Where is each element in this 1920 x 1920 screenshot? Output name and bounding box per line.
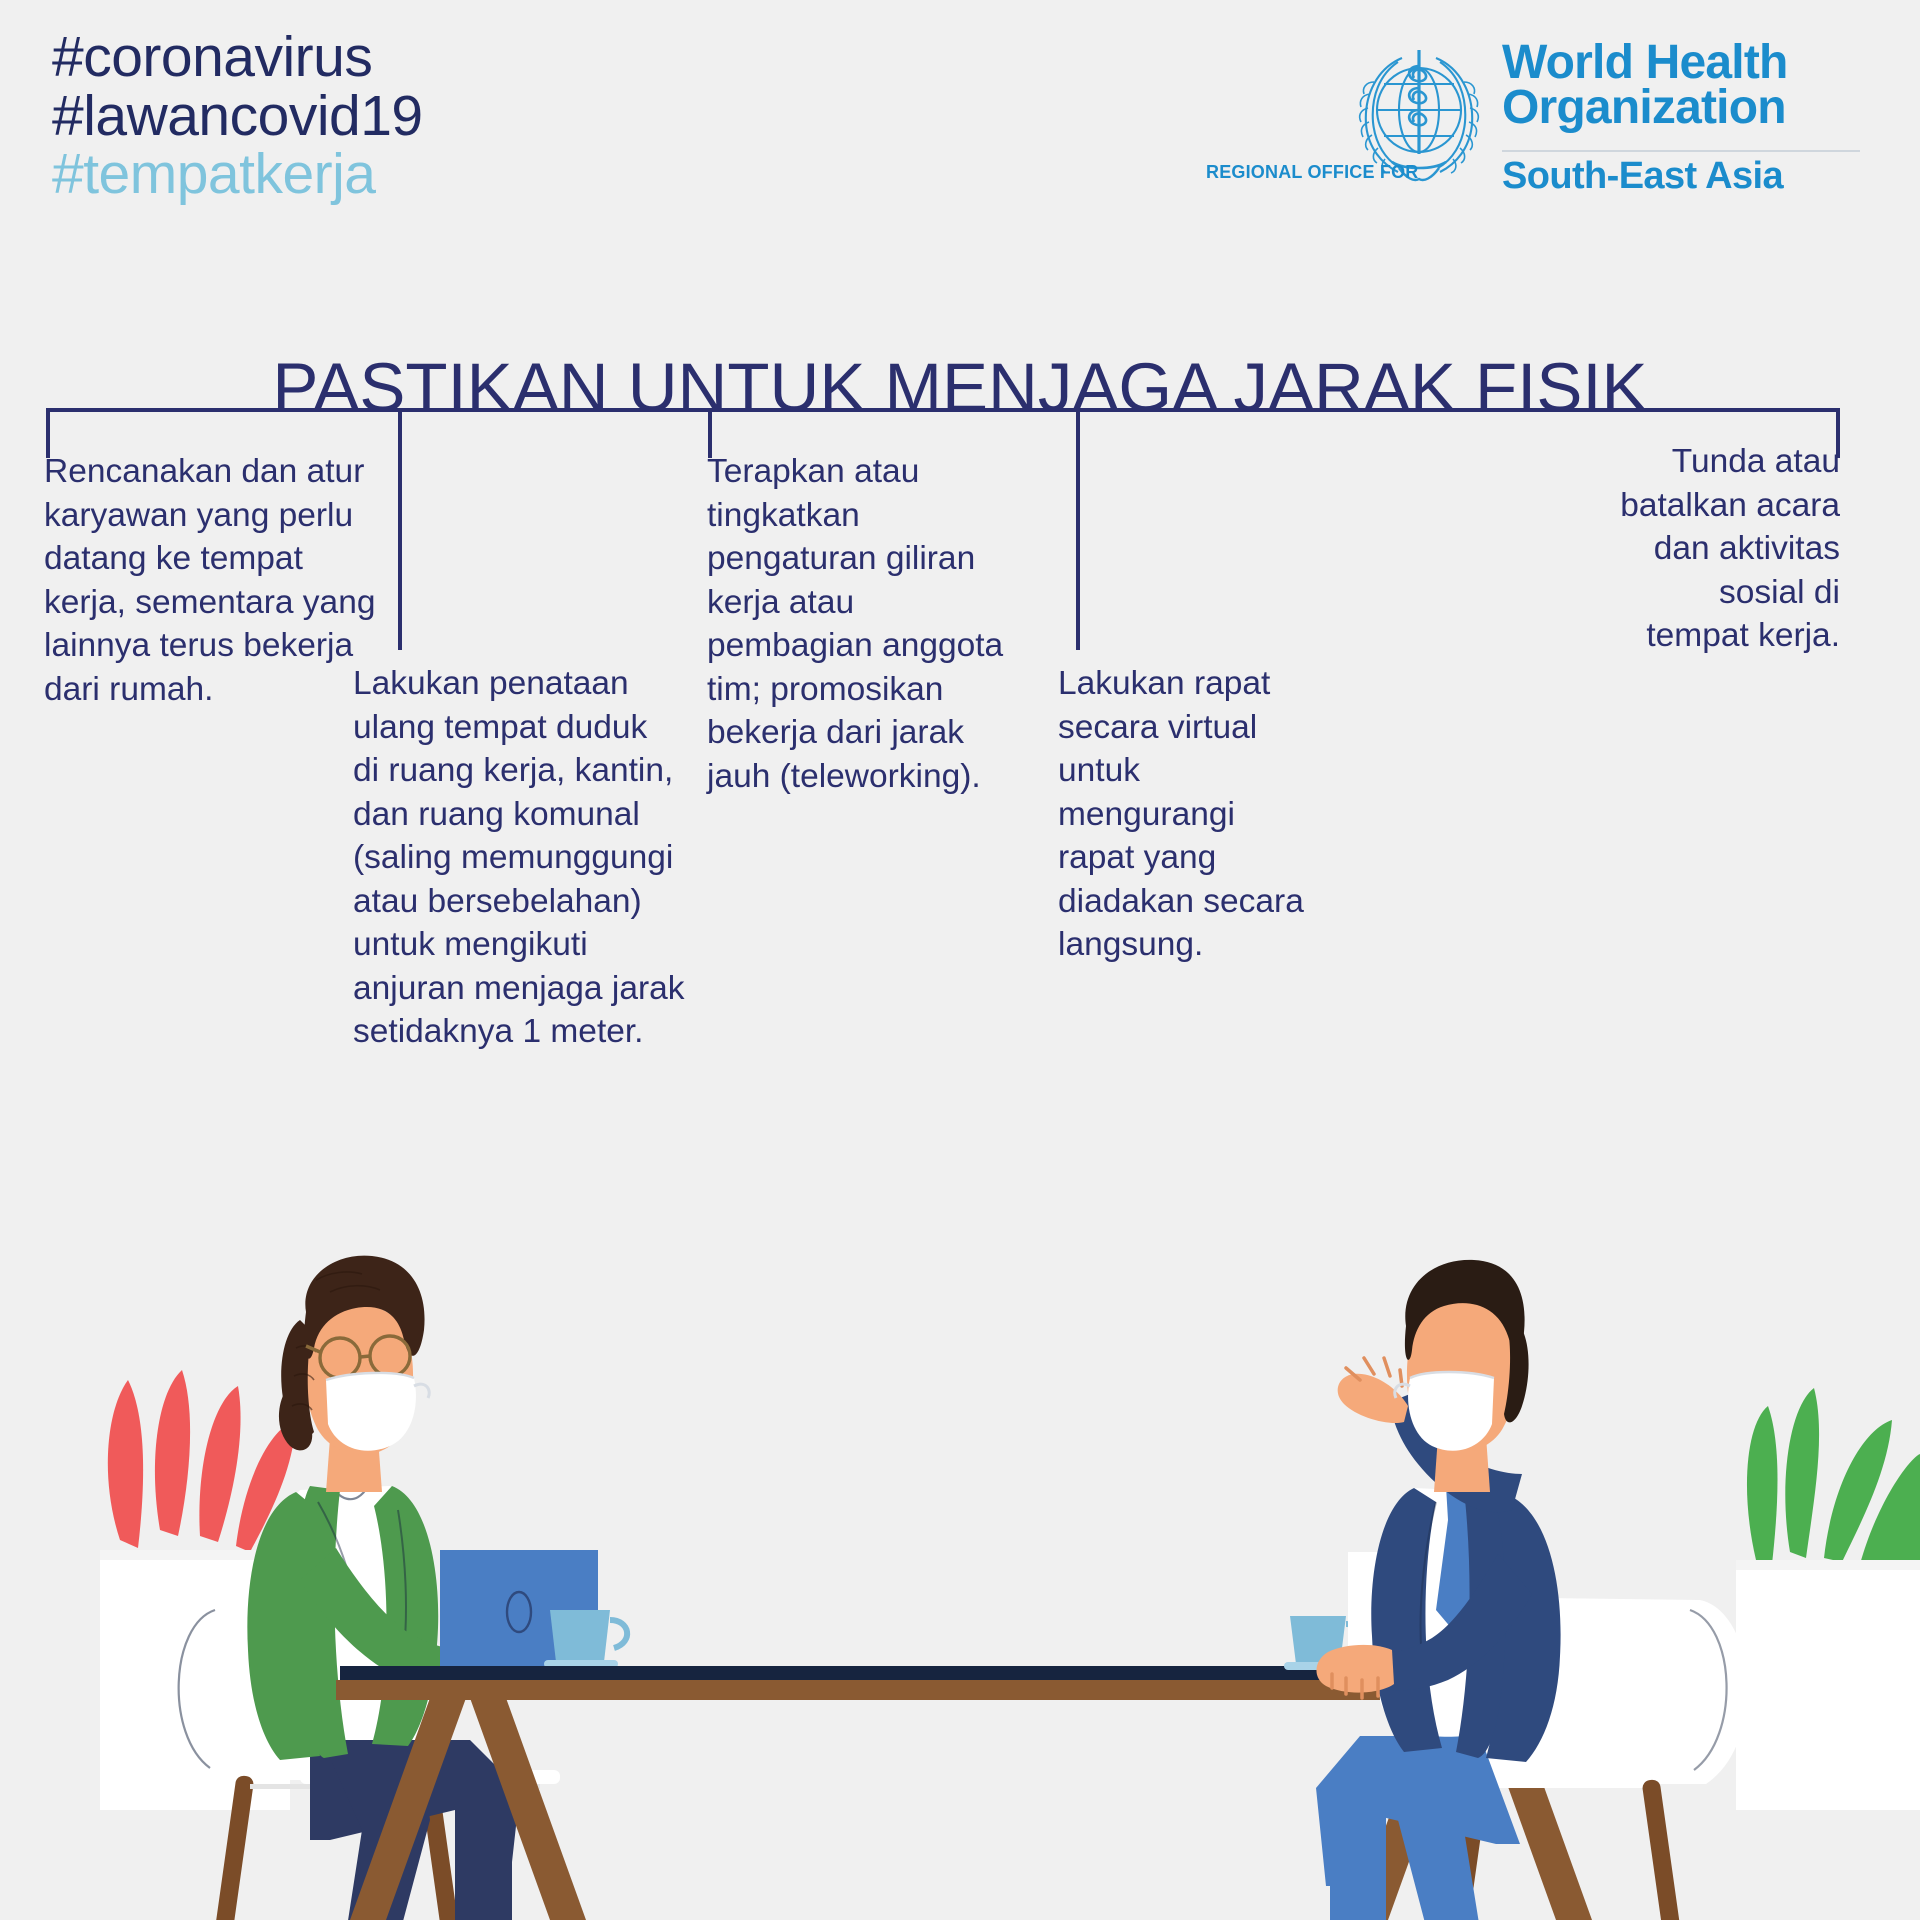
column-4-line: diadakan secara: [1058, 880, 1318, 924]
column-3-line: Terapkan atau: [707, 450, 1037, 494]
column-5-line: dan aktivitas: [1540, 527, 1840, 571]
column-2-line: di ruang kerja, kantin,: [353, 749, 698, 793]
column-2-line: atau bersebelahan): [353, 880, 698, 924]
potted-plant-green-icon: [1736, 1388, 1920, 1810]
poster-root: #coronavirus #lawancovid19 #tempatkerja: [0, 0, 1920, 1920]
who-logo: World Health Organization REGIONAL OFFIC…: [1172, 22, 1892, 207]
column-1-line: datang ke tempat: [44, 537, 384, 581]
who-divider: [1502, 150, 1860, 152]
column-1-line: Rencanakan dan atur: [44, 450, 384, 494]
column-2-line: (saling memunggungi: [353, 836, 698, 880]
column-4-line: untuk: [1058, 749, 1318, 793]
who-line-1: World Health: [1502, 40, 1788, 85]
coffee-cup-left-icon: [544, 1610, 627, 1668]
hashtag-tempatkerja: #tempatkerja: [52, 145, 423, 204]
advice-column-1: Rencanakan dan atur karyawan yang perlu …: [44, 450, 384, 711]
who-organization-name: World Health Organization: [1502, 40, 1788, 130]
column-1-line: lainnya terus bekerja: [44, 624, 384, 668]
advice-column-2: Lakukan penataan ulang tempat duduk di r…: [353, 662, 698, 1054]
advice-column-5: Tunda atau batalkan acara dan aktivitas …: [1540, 440, 1840, 658]
advice-column-3: Terapkan atau tingkatkan pengaturan gili…: [707, 450, 1037, 798]
column-3-line: tingkatkan: [707, 494, 1037, 538]
hashtag-lawancovid19: #lawancovid19: [52, 87, 423, 146]
column-4-line: rapat yang: [1058, 836, 1318, 880]
column-4-line: secara virtual: [1058, 706, 1318, 750]
column-3-line: kerja atau: [707, 581, 1037, 625]
column-2-line: Lakukan penataan: [353, 662, 698, 706]
column-2-line: setidaknya 1 meter.: [353, 1010, 698, 1054]
column-1-line: dari rumah.: [44, 668, 384, 712]
column-1-line: karyawan yang perlu: [44, 494, 384, 538]
column-2-line: ulang tempat duduk: [353, 706, 698, 750]
column-5-line: batalkan acara: [1540, 484, 1840, 528]
column-2-line: untuk mengikuti: [353, 923, 698, 967]
who-regional-office-label: REGIONAL OFFICE FOR: [1206, 162, 1418, 183]
column-3-line: pengaturan giliran: [707, 537, 1037, 581]
hashtag-coronavirus: #coronavirus: [52, 28, 423, 87]
column-5-line: tempat kerja.: [1540, 614, 1840, 658]
column-3-line: tim; promosikan: [707, 668, 1037, 712]
illustration-physical-distancing: [0, 1180, 1920, 1920]
column-2-line: dan ruang komunal: [353, 793, 698, 837]
column-3-line: bekerja dari jarak: [707, 711, 1037, 755]
column-4-line: Lakukan rapat: [1058, 662, 1318, 706]
column-2-line: anjuran menjaga jarak: [353, 967, 698, 1011]
advice-column-4: Lakukan rapat secara virtual untuk mengu…: [1058, 662, 1318, 967]
who-region-name: South-East Asia: [1502, 155, 1783, 198]
column-3-line: pembagian anggota: [707, 624, 1037, 668]
column-5-line: Tunda atau: [1540, 440, 1840, 484]
column-5-line: sosial di: [1540, 571, 1840, 615]
column-4-line: mengurangi: [1058, 793, 1318, 837]
column-1-line: kerja, sementara yang: [44, 581, 384, 625]
column-4-line: langsung.: [1058, 923, 1318, 967]
column-3-line: jauh (teleworking).: [707, 755, 1037, 799]
who-line-2: Organization: [1502, 85, 1788, 130]
hashtag-block: #coronavirus #lawancovid19 #tempatkerja: [52, 28, 423, 204]
